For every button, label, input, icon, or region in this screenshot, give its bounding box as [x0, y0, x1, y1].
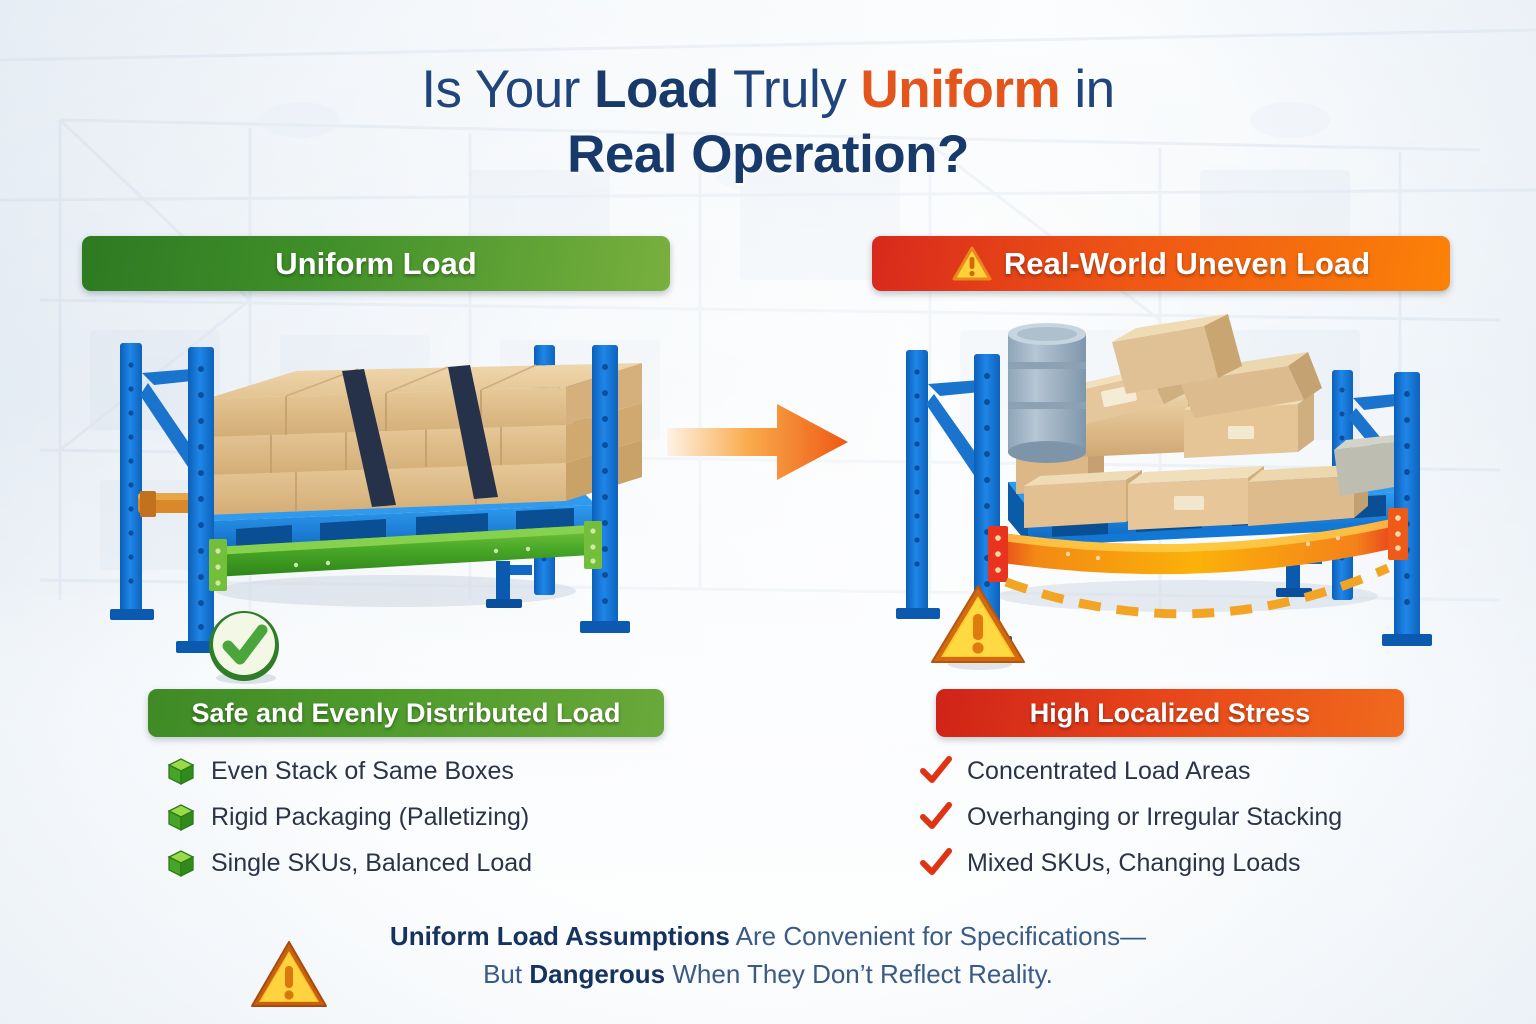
caption-rest-2: When They Don’t Reflect Reality.	[665, 959, 1053, 989]
list-item-label: Rigid Packaging (Palletizing)	[211, 803, 529, 832]
list-item: Overhanging or Irregular Stacking	[920, 794, 1342, 840]
list-item-label: Concentrated Load Areas	[967, 757, 1251, 786]
title-seg-in: in	[1074, 60, 1114, 119]
warning-triangle-icon	[928, 580, 1030, 672]
uniform-rack-svg	[96, 325, 676, 675]
list-item: Even Stack of Same Boxes	[166, 748, 532, 794]
high-stress-banner-label: High Localized Stress	[1030, 698, 1311, 729]
high-stress-banner: High Localized Stress	[936, 689, 1404, 737]
green-cube-icon	[166, 848, 196, 878]
list-item: Single SKUs, Balanced Load	[166, 840, 532, 886]
list-item: Mixed SKUs, Changing Loads	[920, 840, 1342, 886]
uniform-load-header-label: Uniform Load	[275, 246, 477, 282]
page-title: Is Your Load Truly Uniform in Real Opera…	[0, 60, 1536, 185]
check-circle-icon	[198, 606, 290, 686]
red-check-icon	[920, 848, 952, 878]
title-seg-load: Load	[594, 60, 733, 119]
uneven-load-header: Real-World Uneven Load	[872, 236, 1450, 291]
red-check-icon	[920, 802, 952, 832]
red-check-icon	[920, 756, 952, 786]
warning-triangle-icon	[952, 246, 992, 282]
caption-bold-1: Uniform Load Assumptions	[390, 921, 730, 951]
caption-pre-2: But	[483, 959, 529, 989]
green-cube-icon	[166, 756, 196, 786]
transition-arrow	[665, 398, 850, 486]
safe-load-banner-label: Safe and Evenly Distributed Load	[191, 698, 620, 729]
steel-drum-icon	[1008, 323, 1086, 463]
caption-rest-1: Are Convenient for Specifications—	[730, 921, 1146, 951]
uneven-load-header-label: Real-World Uneven Load	[1004, 246, 1370, 282]
green-cube-icon	[166, 802, 196, 832]
bottom-caption: Uniform Load Assumptions Are Convenient …	[0, 918, 1536, 993]
title-seg-is-your: Is Your	[421, 60, 594, 119]
list-item: Rigid Packaging (Palletizing)	[166, 794, 532, 840]
page-title-line-2: Real Operation?	[0, 125, 1536, 184]
uniform-load-bullet-list: Even Stack of Same Boxes Rigid Packaging…	[166, 748, 532, 886]
page-title-line-1: Is Your Load Truly Uniform in	[0, 60, 1536, 119]
list-item-label: Even Stack of Same Boxes	[211, 757, 514, 786]
list-item-label: Overhanging or Irregular Stacking	[967, 803, 1342, 832]
title-seg-uniform: Uniform	[861, 60, 1075, 119]
title-seg-real-operation: Real Operation?	[567, 125, 969, 184]
uniform-load-header: Uniform Load	[82, 236, 670, 291]
rack-upright-back-left-2	[896, 350, 940, 619]
title-seg-truly: Truly	[733, 60, 861, 119]
list-item: Concentrated Load Areas	[920, 748, 1342, 794]
list-item-label: Single SKUs, Balanced Load	[211, 849, 532, 878]
uniform-load-rack-illustration	[96, 325, 676, 675]
safe-load-banner: Safe and Evenly Distributed Load	[148, 689, 664, 737]
uneven-load-bullet-list: Concentrated Load Areas Overhanging or I…	[920, 748, 1342, 886]
uniform-box-stack	[206, 363, 642, 515]
caption-line-2: But Dangerous When They Don’t Reflect Re…	[0, 956, 1536, 994]
caption-line-1: Uniform Load Assumptions Are Convenient …	[0, 918, 1536, 956]
caption-bold-2: Dangerous	[529, 959, 665, 989]
list-item-label: Mixed SKUs, Changing Loads	[967, 849, 1301, 878]
